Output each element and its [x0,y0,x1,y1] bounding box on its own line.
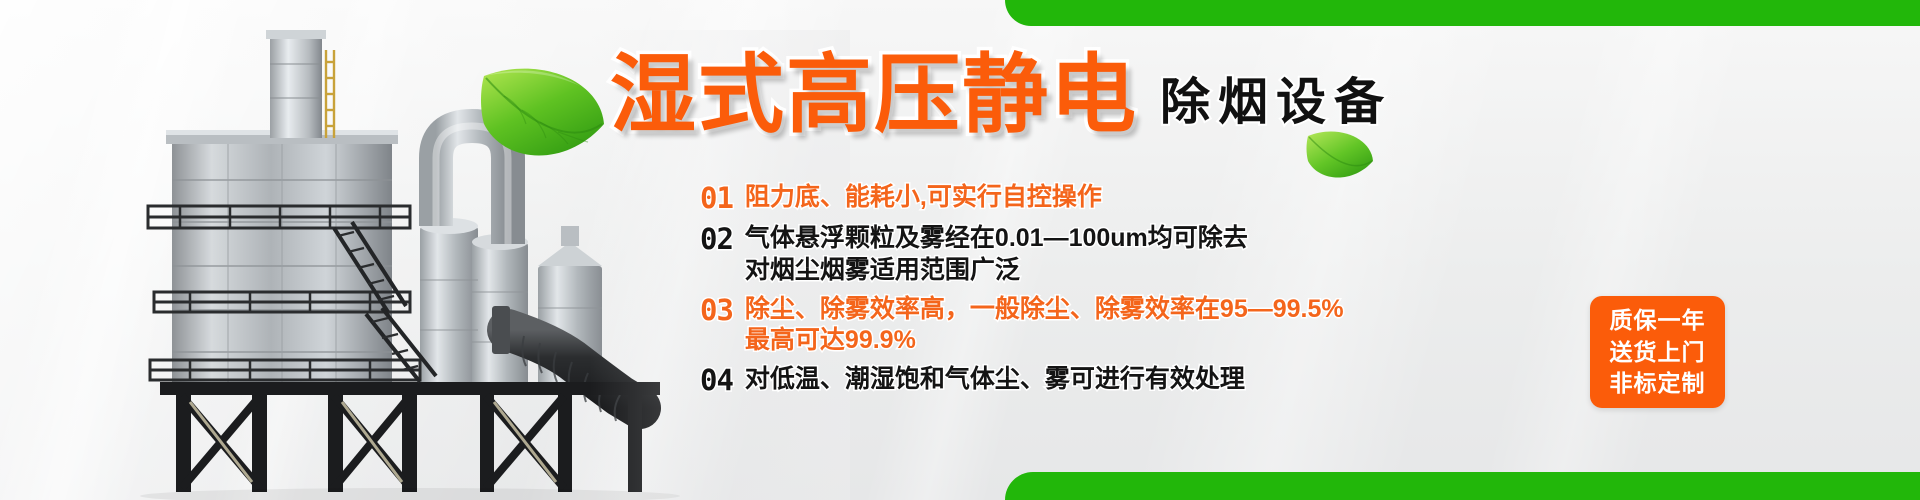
feature-text: 除尘、除雾效率高，一般除尘、除雾效率在95—99.5% 最高可达99.9% [745,294,1344,357]
page-title: 湿式高压静电 [610,52,1138,140]
list-item: 02 气体悬浮颗粒及雾经在0.01—100um均可除去 对烟尘烟雾适用范围广泛 [700,223,1344,286]
green-bar-top [1005,0,1920,26]
feature-list: 01 阻力底、能耗小,可实行自控操作 02 气体悬浮颗粒及雾经在0.01—100… [700,182,1344,398]
feature-line-2: 最高可达99.9% [745,325,1344,356]
feature-line-2: 对烟尘烟雾适用范围广泛 [745,255,1248,286]
feature-number: 01 [700,182,733,215]
promo-banner: 湿式高压静电 除烟设备 01 阻力底、能耗小,可实行自控操作 02 气体悬浮颗粒… [0,0,1920,500]
feature-number: 02 [700,223,733,256]
feature-number: 03 [700,294,733,327]
feature-line-1: 除尘、除雾效率高，一般除尘、除雾效率在95—99.5% [745,295,1344,323]
service-guarantee-badge: 质保一年 送货上门 非标定制 [1590,296,1725,408]
leaf-icon [478,62,608,172]
feature-text: 对低温、潮湿饱和气体尘、雾可进行有效处理 [745,364,1245,395]
headline-group: 湿式高压静电 除烟设备 [610,52,1392,140]
feature-line-1: 阻力底、能耗小,可实行自控操作 [745,183,1102,211]
feature-number: 04 [700,364,733,397]
list-item: 01 阻力底、能耗小,可实行自控操作 [700,182,1344,215]
badge-line-delivery: 送货上门 [1610,338,1706,367]
badge-line-custom: 非标定制 [1610,369,1706,398]
list-item: 03 除尘、除雾效率高，一般除尘、除雾效率在95—99.5% 最高可达99.9% [700,294,1344,357]
green-bar-bottom [1005,472,1920,500]
list-item: 04 对低温、潮湿饱和气体尘、雾可进行有效处理 [700,364,1344,397]
feature-text: 气体悬浮颗粒及雾经在0.01—100um均可除去 对烟尘烟雾适用范围广泛 [745,223,1248,286]
page-subtitle: 除烟设备 [1160,62,1392,134]
badge-line-warranty: 质保一年 [1610,306,1706,335]
feature-text: 阻力底、能耗小,可实行自控操作 [745,182,1102,213]
feature-line-1: 气体悬浮颗粒及雾经在0.01—100um均可除去 [745,224,1248,252]
feature-line-1: 对低温、潮湿饱和气体尘、雾可进行有效处理 [745,365,1245,393]
